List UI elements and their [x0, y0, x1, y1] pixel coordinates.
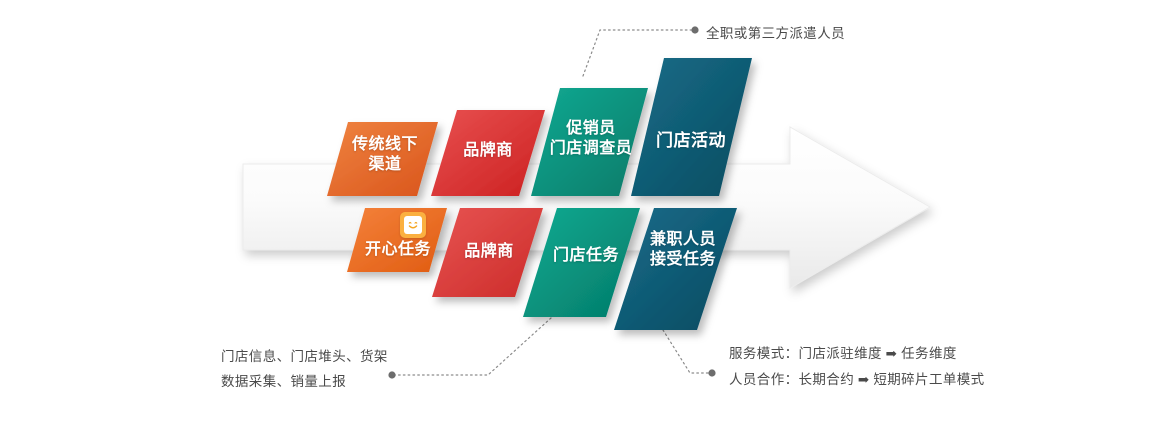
annotation-top-right: 全职或第三方派遣人员 — [706, 21, 845, 47]
annotation-bottom-left-line1: 门店信息、门店堆头、货架 — [221, 344, 388, 370]
annotation-bottom-right-line1: 服务模式：门店派驻维度 ➡ 任务维度 — [729, 341, 957, 367]
smiley-icon-face — [404, 216, 422, 234]
connector-bottom-left — [388, 318, 551, 379]
annotation-bottom-left-line2: 数据采集、销量上报 — [221, 369, 346, 395]
annotation-bottom-right-line2: 人员合作：长期合约 ➡ 短期碎片工单模式 — [729, 367, 985, 393]
connector-bottom-right — [663, 330, 716, 377]
smiley-icon — [400, 212, 426, 238]
top-row-shapes — [327, 58, 752, 196]
diagram-svg — [0, 0, 1150, 430]
diagram-canvas: 传统线下 渠道 品牌商 促销员 门店调查员 门店活动 开心任务 品牌商 门店任务… — [0, 0, 1150, 430]
